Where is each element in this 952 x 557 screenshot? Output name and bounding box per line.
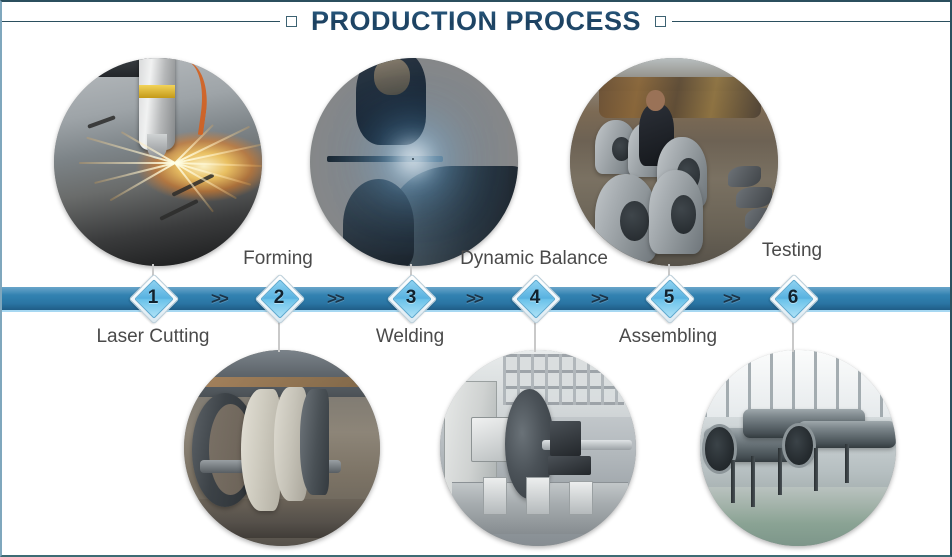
step-photo-laser-cutting [54, 58, 262, 266]
step-photo-forming [184, 350, 380, 546]
chevron-separator-3: >> [466, 288, 482, 309]
page-title: PRODUCTION PROCESS [303, 6, 649, 37]
step-photo-assembling [570, 58, 778, 266]
forming-image [184, 350, 380, 546]
step-marker-6[interactable]: 6 [770, 275, 816, 321]
step-marker-4[interactable]: 4 [512, 275, 558, 321]
step-marker-3[interactable]: 3 [388, 275, 434, 321]
step-number-3: 3 [388, 275, 434, 321]
laser-cutting-image [54, 58, 262, 266]
step-marker-1[interactable]: 1 [130, 275, 176, 321]
step-label-assembling: Assembling [568, 326, 768, 348]
dynamic-balance-image [440, 350, 636, 546]
step-number-5: 5 [646, 275, 692, 321]
step-number-2: 2 [256, 275, 302, 321]
chevron-separator-1: >> [211, 288, 227, 309]
chevron-separator-4: >> [591, 288, 607, 309]
square-marker-right-icon [655, 16, 666, 27]
step-photo-testing [700, 350, 896, 546]
step-label-dynamic-balance: Dynamic Balance [434, 248, 634, 270]
welding-image [310, 58, 518, 266]
step-label-laser-cutting: Laser Cutting [53, 326, 253, 348]
square-marker-left-icon [286, 16, 297, 27]
chevron-separator-5: >> [723, 288, 739, 309]
step-marker-2[interactable]: 2 [256, 275, 302, 321]
step-number-1: 1 [130, 275, 176, 321]
step-label-testing: Testing [692, 240, 892, 262]
step-photo-dynamic-balance [440, 350, 636, 546]
page-title-row: PRODUCTION PROCESS [2, 2, 950, 40]
testing-image [700, 350, 896, 546]
title-rule-left [2, 21, 280, 22]
step-label-welding: Welding [310, 326, 510, 348]
step-marker-5[interactable]: 5 [646, 275, 692, 321]
production-process-infographic: PRODUCTION PROCESS [0, 0, 952, 557]
step-label-forming: Forming [178, 248, 378, 270]
chevron-separator-2: >> [327, 288, 343, 309]
step-photo-welding [310, 58, 518, 266]
step-number-4: 4 [512, 275, 558, 321]
title-rule-right [672, 21, 950, 22]
assembling-image [570, 58, 778, 266]
step-number-6: 6 [770, 275, 816, 321]
